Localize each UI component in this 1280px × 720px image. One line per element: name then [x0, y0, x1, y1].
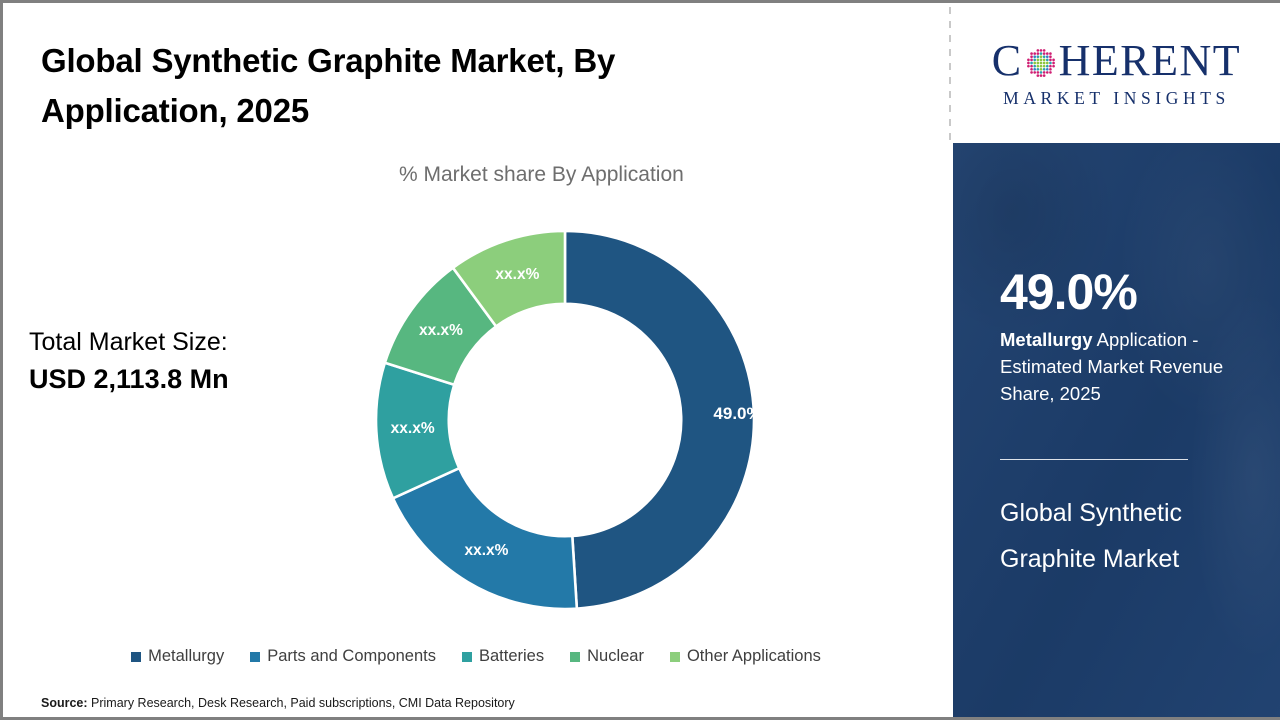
logo-wordmark: C HERENT: [992, 39, 1241, 83]
legend-label-other-applications: Other Applications: [687, 647, 821, 666]
legend-label-nuclear: Nuclear: [587, 647, 644, 666]
vertical-dashed-divider: [949, 7, 951, 147]
legend-label-batteries: Batteries: [479, 647, 544, 666]
donut-chart: 49.0%xx.x%xx.x%xx.x%xx.x%: [370, 225, 760, 615]
logo-letter-c: C: [992, 39, 1023, 83]
dotted-globe-icon: [1024, 46, 1058, 80]
chart-subtitle: % Market share By Application: [399, 163, 684, 187]
highlight-panel: 49.0% Metallurgy Application - Estimated…: [953, 143, 1280, 717]
infographic-canvas: Global Synthetic Graphite Market, By App…: [0, 0, 1280, 720]
legend-label-parts-and-components: Parts and Components: [267, 647, 436, 666]
donut-data-label-nuclear: xx.x%: [419, 322, 463, 339]
panel-divider-rule: [1000, 459, 1188, 460]
source-note: Source: Primary Research, Desk Research,…: [41, 696, 515, 710]
total-market-size-block: Total Market Size: USD 2,113.8 Mn: [29, 325, 329, 398]
panel-market-name: Global Synthetic Graphite Market: [1000, 491, 1250, 582]
legend-label-metallurgy: Metallurgy: [148, 647, 224, 666]
logo-tagline: MARKET INSIGHTS: [1003, 90, 1230, 108]
legend-swatch-batteries: [462, 652, 472, 662]
main-content-area: Global Synthetic Graphite Market, By App…: [3, 3, 949, 717]
highlight-percentage: 49.0%: [1000, 267, 1137, 317]
legend-item-other-applications[interactable]: Other Applications: [670, 647, 821, 666]
panel-texture-overlay: [953, 143, 1280, 717]
logo-word-herent: HERENT: [1059, 39, 1242, 83]
legend-swatch-parts-and-components: [250, 652, 260, 662]
donut-data-label-batteries: xx.x%: [391, 420, 435, 437]
source-label: Source:: [41, 696, 88, 710]
total-market-size-value: USD 2,113.8 Mn: [29, 360, 329, 398]
highlight-segment-name: Metallurgy: [1000, 329, 1093, 350]
legend-swatch-metallurgy: [131, 652, 141, 662]
company-logo: C HERENT MARKET INSIGHTS: [953, 3, 1280, 143]
legend-swatch-other-applications: [670, 652, 680, 662]
donut-data-label-other-applications: xx.x%: [495, 266, 539, 283]
legend-swatch-nuclear: [570, 652, 580, 662]
donut-data-label-metallurgy: 49.0%: [713, 404, 760, 423]
page-title: Global Synthetic Graphite Market, By App…: [41, 36, 741, 136]
brand-sidebar: C HERENT MARKET INSIGHTS 49.0% Metallurg…: [953, 3, 1280, 717]
legend-item-parts-and-components[interactable]: Parts and Components: [250, 647, 436, 666]
legend-item-batteries[interactable]: Batteries: [462, 647, 544, 666]
donut-data-label-parts-and-components: xx.x%: [465, 542, 509, 559]
chart-legend: MetallurgyParts and ComponentsBatteriesN…: [3, 647, 949, 666]
donut-chart-svg: 49.0%xx.x%xx.x%xx.x%xx.x%: [370, 225, 760, 615]
donut-slice-parts-and-components[interactable]: [393, 468, 577, 609]
highlight-description: Metallurgy Application - Estimated Marke…: [1000, 326, 1250, 408]
total-market-size-label: Total Market Size:: [29, 325, 329, 360]
source-text: Primary Research, Desk Research, Paid su…: [88, 696, 515, 710]
legend-item-metallurgy[interactable]: Metallurgy: [131, 647, 224, 666]
legend-item-nuclear[interactable]: Nuclear: [570, 647, 644, 666]
